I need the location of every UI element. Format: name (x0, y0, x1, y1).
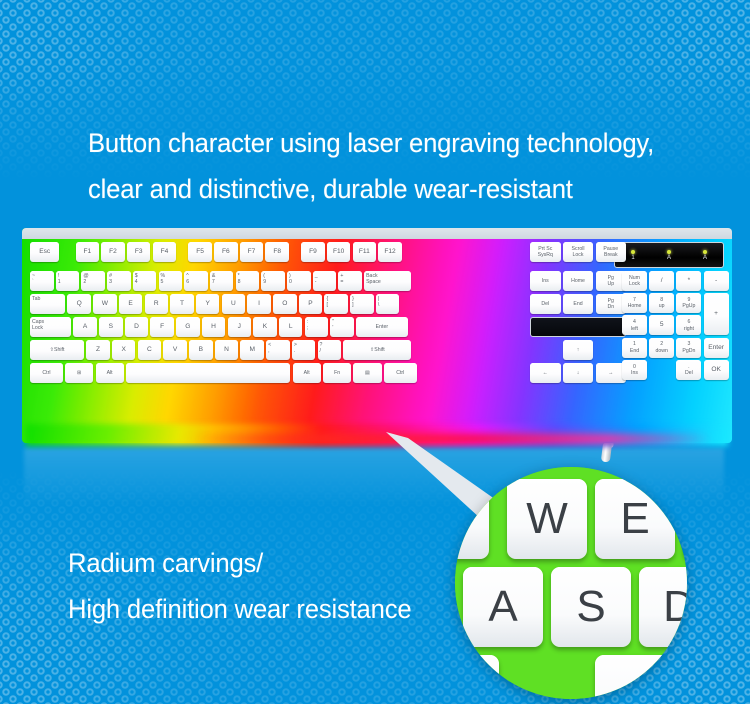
key-r-label: R (154, 301, 159, 307)
key-5[interactable]: %5 (159, 271, 183, 291)
magnified-key-w-label: W (526, 494, 568, 544)
key-right-shift-label: ⇧Shift (370, 347, 385, 353)
key-tab[interactable]: Tab (30, 294, 65, 314)
key-2-top: @ (83, 273, 88, 279)
key-f3-label: F3 (135, 249, 143, 255)
key-f8-label: F8 (273, 249, 281, 255)
key-n[interactable]: N (215, 340, 239, 360)
magnifier-keys: WEASD (455, 467, 687, 699)
key-num-lock-bottom: Lock (629, 281, 640, 287)
magnified-key-partial (595, 655, 675, 699)
key-2[interactable]: @2 (81, 271, 105, 291)
key-key[interactable]: _- (313, 271, 337, 291)
key-numpad-5[interactable]: 5 (649, 315, 674, 335)
key-a-label: A (83, 324, 87, 330)
magnified-key-e[interactable]: E (595, 479, 675, 559)
key-numpad-decimal[interactable]: .Del (676, 360, 701, 380)
key-f11-label: F11 (359, 249, 370, 255)
key-numpad-6-bottom: right (684, 326, 694, 332)
key-numpad-minus[interactable]: - (704, 271, 729, 291)
brand-logo-plate (530, 317, 626, 337)
key-numpad-1-top: 1 (633, 341, 636, 347)
key-scroll-lock-bottom: Lock (573, 252, 584, 258)
key-fn-right[interactable]: Fn (323, 363, 351, 383)
key-f5[interactable]: F5 (188, 242, 212, 262)
key-home-label: Home (571, 278, 585, 284)
key-4-bottom: 4 (135, 279, 138, 285)
key-0-bottom: 0 (289, 279, 292, 285)
key-numpad-plus[interactable]: + (704, 293, 729, 335)
key-semicolon[interactable]: :; (305, 317, 329, 337)
key-f4[interactable]: F4 (153, 242, 177, 262)
key-key[interactable]: }] (350, 294, 374, 314)
headline-line-1: Button character using laser engraving t… (88, 128, 654, 158)
key-3-top: # (109, 273, 112, 279)
key-f12-label: F12 (384, 249, 395, 255)
key-esc-label: Esc (39, 249, 50, 255)
key-arrow-left[interactable]: ← (530, 363, 561, 383)
key-f9[interactable]: F9 (301, 242, 325, 262)
key-key[interactable]: {[ (324, 294, 348, 314)
key-q[interactable]: Q (67, 294, 91, 314)
magnified-key-e-label: E (620, 494, 649, 544)
key-e[interactable]: E (119, 294, 143, 314)
key-h-label: H (211, 324, 216, 330)
key-numpad-2[interactable]: 2down (649, 338, 674, 358)
key-numpad-4-top: 4 (633, 319, 636, 325)
key-w[interactable]: W (93, 294, 117, 314)
key-home[interactable]: Home (563, 271, 594, 291)
magnified-key-a-label: A (488, 582, 517, 632)
key-1-bottom: 1 (58, 279, 61, 285)
key-arrow-up-label: ↑ (577, 347, 580, 353)
key-k[interactable]: K (253, 317, 277, 337)
key-numpad-8-bottom: up (659, 303, 665, 309)
key-e-label: E (128, 301, 132, 307)
key-9-bottom: 9 (263, 279, 266, 285)
key-numpad-9-top: 9 (687, 297, 690, 303)
key-q-label: Q (77, 301, 82, 307)
key-7-top: & (212, 273, 215, 279)
key-7-bottom: 7 (212, 279, 215, 285)
key-m-label: M (249, 347, 255, 353)
key-z[interactable]: Z (86, 340, 110, 360)
key-semicolon-top: : (307, 319, 308, 325)
key-numpad-minus-label: - (715, 278, 717, 284)
key-6-top: ^ (186, 273, 188, 279)
magnified-key-d[interactable]: D (639, 567, 687, 647)
num-lock-led: 1 (631, 250, 635, 261)
key-ctrl-right-label: Ctrl (396, 370, 404, 376)
headline-text: Button character using laser engraving t… (88, 120, 715, 212)
key-numpad-6-top: 6 (687, 319, 690, 325)
key-caps-lock[interactable]: CapsLock (30, 317, 71, 337)
key-pause-break-bottom: Break (604, 252, 618, 258)
key-f[interactable]: F (150, 317, 174, 337)
key-period-bottom: . (294, 348, 295, 354)
scroll-lock-led-label: A (703, 255, 707, 261)
key-numpad-2-bottom: down (655, 348, 667, 354)
key-j[interactable]: J (228, 317, 252, 337)
key-8-bottom: 8 (238, 279, 241, 285)
key-z-label: Z (96, 347, 100, 353)
key-pgup-bottom: Up (607, 281, 614, 287)
key-r[interactable]: R (145, 294, 169, 314)
key-numpad-9-bottom: PgUp (682, 303, 695, 309)
num-lock-led-label: 1 (631, 255, 634, 261)
key-quote-top: " (332, 319, 334, 325)
key-u-label: U (231, 301, 236, 307)
key-f7[interactable]: F7 (240, 242, 264, 262)
key-key-top: ~ (32, 273, 35, 279)
key-f2[interactable]: F2 (101, 242, 125, 262)
key-numpad-1-bottom: End (630, 348, 639, 354)
key-num-lock-top: Num (629, 275, 640, 281)
key-ctrl[interactable]: Ctrl (30, 363, 63, 383)
key-numpad-0-bottom: Ins (631, 370, 638, 376)
key-key-top: _ (315, 273, 318, 279)
key-9-top: ( (263, 273, 265, 279)
key-ins[interactable]: Ins (530, 271, 561, 291)
key-4-top: $ (135, 273, 138, 279)
key-left-shift-label: ⇧Shift (50, 347, 65, 353)
key-end-label: End (573, 301, 582, 307)
key-key-top: + (340, 273, 343, 279)
key-f5-label: F5 (196, 249, 204, 255)
product-banner: Button character using laser engraving t… (0, 0, 750, 704)
key-comma-bottom: , (268, 348, 269, 354)
key-m[interactable]: M (240, 340, 264, 360)
magnified-key-w[interactable]: W (507, 479, 587, 559)
key-menu-right-label: ▤ (365, 370, 370, 376)
key-j-label: J (238, 324, 241, 330)
key-f12[interactable]: F12 (378, 242, 402, 262)
key-b-label: B (199, 347, 203, 353)
key-scroll-lock-top: Scroll (572, 246, 585, 252)
key-key-bottom: = (340, 279, 343, 285)
key-period-top: > (294, 342, 297, 348)
key-4[interactable]: $4 (133, 271, 157, 291)
key-pgdn-bottom: Dn (607, 304, 614, 310)
key-key-bottom: ] (352, 302, 353, 308)
key-f1-label: F1 (83, 249, 91, 255)
key-menu-right[interactable]: ▤ (353, 363, 381, 383)
key-enter[interactable]: Enter (356, 317, 408, 337)
key-num-lock[interactable]: NumLock (622, 271, 647, 291)
key-key-bottom: \ (378, 302, 379, 308)
key-v[interactable]: V (163, 340, 187, 360)
key-numpad-0[interactable]: 0Ins (622, 360, 647, 380)
key-del-label: Del (541, 301, 549, 307)
caps-lock-led-label: A (667, 255, 671, 261)
key-arrow-right-label: → (608, 370, 613, 376)
key-backspace[interactable]: BackSpace (364, 271, 411, 291)
key-t-label: T (180, 301, 184, 307)
num-lock-led-dot (631, 250, 635, 254)
key-quote-bottom: ' (332, 325, 333, 331)
key-y[interactable]: Y (196, 294, 220, 314)
key-fn-right-label: Fn (334, 370, 340, 376)
magnified-key-partial (455, 655, 499, 699)
magnifier-inset: WEASD (455, 467, 687, 699)
key-numpad-multiply-label: * (688, 278, 691, 284)
key-8[interactable]: *8 (236, 271, 260, 291)
key-i[interactable]: I (247, 294, 271, 314)
key-pause-break-top: Pause (603, 246, 618, 252)
key-t[interactable]: T (170, 294, 194, 314)
magnified-key-partial (455, 479, 489, 559)
key-1[interactable]: !1 (56, 271, 80, 291)
key-f10-label: F10 (333, 249, 344, 255)
caption-line-2: High definition wear resistance (68, 586, 515, 632)
key-numpad-0-top: 0 (633, 364, 636, 370)
key-s-label: S (109, 324, 113, 330)
key-3-bottom: 3 (109, 279, 112, 285)
key-numpad-3-bottom: PgDn (682, 348, 695, 354)
key-c-label: C (147, 347, 152, 353)
key-n-label: N (224, 347, 229, 353)
key-y-label: Y (205, 301, 209, 307)
key-numpad-plus-label: + (714, 311, 718, 317)
key-slash-bottom: / (320, 348, 321, 354)
key-arrow-down-label: ↓ (577, 370, 580, 376)
key-alt[interactable]: Alt (96, 363, 124, 383)
key-0[interactable]: )0 (287, 271, 311, 291)
key-numpad-4[interactable]: 4left (622, 315, 647, 335)
key-p-label: P (308, 301, 312, 307)
key-0-top: ) (289, 273, 291, 279)
key-u[interactable]: U (222, 294, 246, 314)
key-ctrl-label: Ctrl (42, 370, 50, 376)
key-f7-label: F7 (248, 249, 256, 255)
key-c[interactable]: C (138, 340, 162, 360)
keyboard-under-glow-red (192, 434, 712, 444)
key-5-bottom: 5 (161, 279, 164, 285)
key-key[interactable]: |\ (376, 294, 400, 314)
key-backspace-top: Back (366, 273, 378, 279)
key-o-label: O (282, 301, 287, 307)
key-x-label: X (121, 347, 125, 353)
key-d[interactable]: D (125, 317, 149, 337)
key-key-top: { (326, 296, 328, 302)
key-numpad-decimal-bottom: Del (685, 370, 693, 376)
key-arrow-left-label: ← (543, 370, 548, 376)
keyboard-top-bezel (22, 228, 732, 239)
key-tab-label: Tab (32, 296, 40, 302)
key-f9-label: F9 (309, 249, 317, 255)
key-numpad-8-top: 8 (660, 297, 663, 303)
key-f10[interactable]: F10 (327, 242, 351, 262)
key-end[interactable]: End (563, 294, 594, 314)
key-arrow-up[interactable]: ↑ (563, 340, 594, 360)
key-pause-break[interactable]: PauseBreak (596, 242, 627, 262)
key-scroll-lock[interactable]: ScrollLock (563, 242, 594, 262)
key-numpad-9[interactable]: 9PgUp (676, 293, 701, 313)
key-period[interactable]: >. (292, 340, 316, 360)
key-numpad-multiply[interactable]: * (676, 271, 701, 291)
key-numpad-3[interactable]: 3PgDn (676, 338, 701, 358)
key-numpad-5-label: 5 (660, 322, 664, 328)
key-f11[interactable]: F11 (353, 242, 377, 262)
key-pgup-top: Pg (608, 275, 614, 281)
key-g[interactable]: G (176, 317, 200, 337)
key-l-label: L (289, 324, 293, 330)
key-key-bottom: - (315, 279, 317, 285)
key-right-shift[interactable]: ⇧Shift (343, 340, 411, 360)
magnified-key-s[interactable]: S (551, 567, 631, 647)
key-comma-top: < (268, 342, 271, 348)
magnified-key-d-label: D (663, 582, 687, 632)
key-i-label: I (258, 301, 260, 307)
key-quote[interactable]: "' (330, 317, 354, 337)
caption-line-1: Radium carvings/ (68, 548, 263, 578)
key-numpad-8[interactable]: 8up (649, 293, 674, 313)
key-slash[interactable]: ?/ (318, 340, 342, 360)
key-numpad-7[interactable]: 7Home (622, 293, 647, 313)
key-6[interactable]: ^6 (184, 271, 208, 291)
caption-text: Radium carvings/ High definition wear re… (68, 540, 515, 632)
key-p[interactable]: P (299, 294, 323, 314)
key-numpad-ok[interactable]: OK (704, 360, 729, 380)
key-key[interactable]: += (338, 271, 362, 291)
key-alt-right-label: Alt (304, 370, 310, 376)
keyboard: 1 A A EscF1F2F3F4F5F6F7F8F9F10F11F12Prt … (22, 228, 732, 443)
key-numpad-3-top: 3 (687, 341, 690, 347)
key-6-bottom: 6 (186, 279, 189, 285)
key-3[interactable]: #3 (107, 271, 131, 291)
key-f6[interactable]: F6 (214, 242, 238, 262)
key-f4-label: F4 (161, 249, 169, 255)
key-f6-label: F6 (222, 249, 230, 255)
key-o[interactable]: O (273, 294, 297, 314)
key-alt-label: Alt (107, 370, 113, 376)
key-ctrl-right[interactable]: Ctrl (384, 363, 417, 383)
key-h[interactable]: H (202, 317, 226, 337)
key-left-shift[interactable]: ⇧Shift (30, 340, 84, 360)
key-semicolon-bottom: ; (307, 325, 308, 331)
key-comma[interactable]: <, (266, 340, 290, 360)
key-slash-top: ? (320, 342, 323, 348)
key-backspace-bottom: Space (366, 279, 381, 285)
key-key-top: | (378, 296, 379, 302)
key-numpad-divide[interactable]: / (649, 271, 674, 291)
key-f1[interactable]: F1 (76, 242, 100, 262)
key-numpad-enter-label: Enter (708, 345, 724, 351)
key-5-top: % (161, 273, 166, 279)
key-8-top: * (238, 273, 240, 279)
key-s[interactable]: S (99, 317, 123, 337)
key-d-label: D (134, 324, 139, 330)
key-numpad-6[interactable]: 6right (676, 315, 701, 335)
key-1-top: ! (58, 273, 59, 279)
key-key[interactable]: ~` (30, 271, 54, 291)
key-v-label: V (173, 347, 177, 353)
key-b[interactable]: B (189, 340, 213, 360)
key-f3[interactable]: F3 (127, 242, 151, 262)
key-w-label: W (102, 301, 108, 307)
key-pgdn-top: Pg (608, 298, 614, 304)
key-esc[interactable]: Esc (30, 242, 59, 262)
headline-line-2: clear and distinctive, durable wear-resi… (88, 166, 715, 212)
magnified-key-s-label: S (576, 582, 605, 632)
key-prt-sc-sysrq-top: Prt Sc (538, 246, 552, 252)
key-arrow-down[interactable]: ↓ (563, 363, 594, 383)
key-win[interactable]: ⊞ (65, 363, 93, 383)
key-x[interactable]: X (112, 340, 136, 360)
key-key-top: } (352, 296, 354, 302)
indicator-led-panel: 1 A A (614, 242, 724, 268)
caps-lock-led-dot (667, 250, 671, 254)
key-numpad-4-bottom: left (631, 326, 638, 332)
key-7[interactable]: &7 (210, 271, 234, 291)
key-caps-lock-bottom: Lock (32, 325, 43, 331)
magnified-key-a[interactable]: A (463, 567, 543, 647)
key-caps-lock-top: Caps (32, 319, 44, 325)
key-numpad-decimal-top: . (688, 364, 689, 370)
key-key-bottom: [ (326, 302, 327, 308)
key-ins-label: Ins (542, 278, 549, 284)
key-enter-label: Enter (376, 324, 388, 330)
key-del[interactable]: Del (530, 294, 561, 314)
key-f8[interactable]: F8 (265, 242, 289, 262)
key-k-label: K (263, 324, 267, 330)
scroll-lock-led-dot (703, 250, 707, 254)
key-2-bottom: 2 (83, 279, 86, 285)
scroll-lock-led: A (703, 250, 707, 261)
key-prt-sc-sysrq[interactable]: Prt ScSysRq (530, 242, 561, 262)
caps-lock-led: A (667, 250, 671, 261)
key-a[interactable]: A (73, 317, 97, 337)
key-numpad-7-top: 7 (633, 297, 636, 303)
key-win-label: ⊞ (77, 370, 81, 376)
key-alt-right[interactable]: Alt (293, 363, 321, 383)
key-9[interactable]: (9 (261, 271, 285, 291)
key-numpad-enter[interactable]: Enter (704, 338, 729, 358)
key-space[interactable] (126, 363, 291, 383)
key-numpad-1[interactable]: 1End (622, 338, 647, 358)
magnified-key-partial (683, 479, 687, 559)
key-numpad-2-top: 2 (660, 341, 663, 347)
key-numpad-7-bottom: Home (628, 303, 642, 309)
key-numpad-divide-label: / (661, 278, 663, 284)
key-numpad-ok-label: OK (711, 367, 721, 373)
key-l[interactable]: L (279, 317, 303, 337)
key-f2-label: F2 (109, 249, 117, 255)
key-f-label: F (160, 324, 164, 330)
key-g-label: G (185, 324, 190, 330)
key-key-bottom: ` (32, 279, 34, 285)
key-prt-sc-sysrq-bottom: SysRq (538, 252, 553, 258)
